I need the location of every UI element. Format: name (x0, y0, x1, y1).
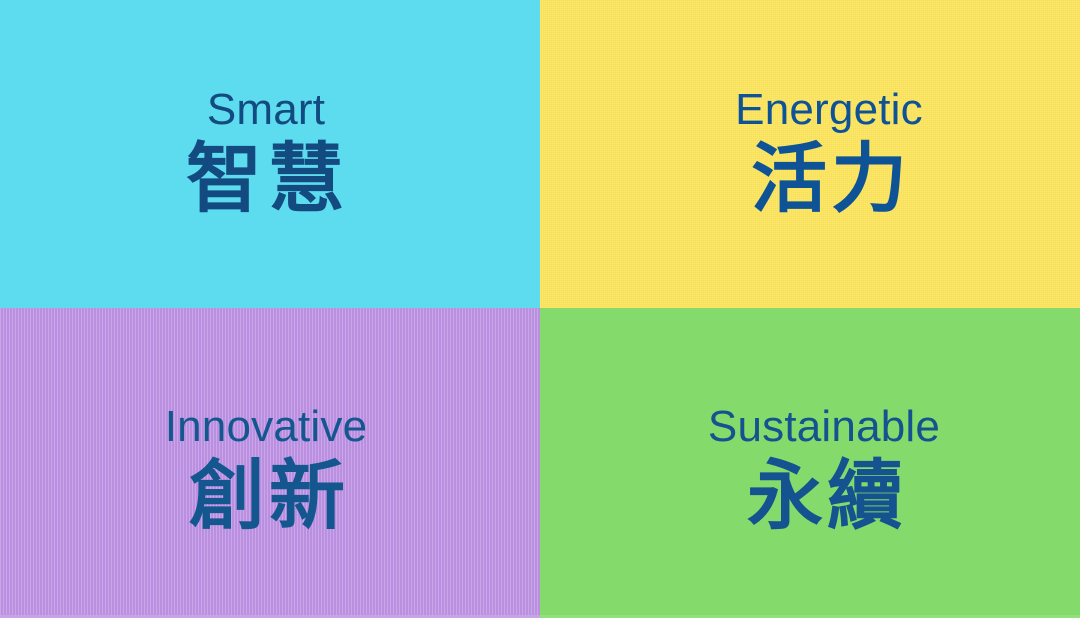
quadrant-sustainable-label-zh: 永續 (747, 455, 907, 537)
quadrant-energetic-content: Energetic 活力 (540, 0, 1080, 308)
quadrant-innovative-label-en: Innovative (165, 405, 368, 449)
brand-values-quadrant-poster: Smart 智慧 Energetic 活力 Innovative 創新 Sust… (0, 0, 1080, 618)
quadrant-energetic[interactable]: Energetic 活力 (540, 0, 1080, 308)
quadrant-innovative-content: Innovative 創新 (0, 308, 540, 618)
quadrant-sustainable[interactable]: Sustainable 永續 (540, 308, 1080, 618)
quadrant-smart[interactable]: Smart 智慧 (0, 0, 540, 308)
quadrant-smart-content: Smart 智慧 (0, 0, 540, 308)
quadrant-innovative[interactable]: Innovative 創新 (0, 308, 540, 618)
quadrant-energetic-label-en: Energetic (735, 88, 923, 132)
quadrant-innovative-label-zh: 創新 (189, 455, 349, 537)
quadrant-sustainable-label-en: Sustainable (708, 405, 940, 449)
quadrant-smart-label-zh: 智慧 (186, 138, 350, 220)
quadrant-sustainable-content: Sustainable 永續 (540, 308, 1080, 618)
quadrant-energetic-label-zh: 活力 (751, 138, 911, 220)
quadrant-smart-label-en: Smart (207, 88, 325, 132)
